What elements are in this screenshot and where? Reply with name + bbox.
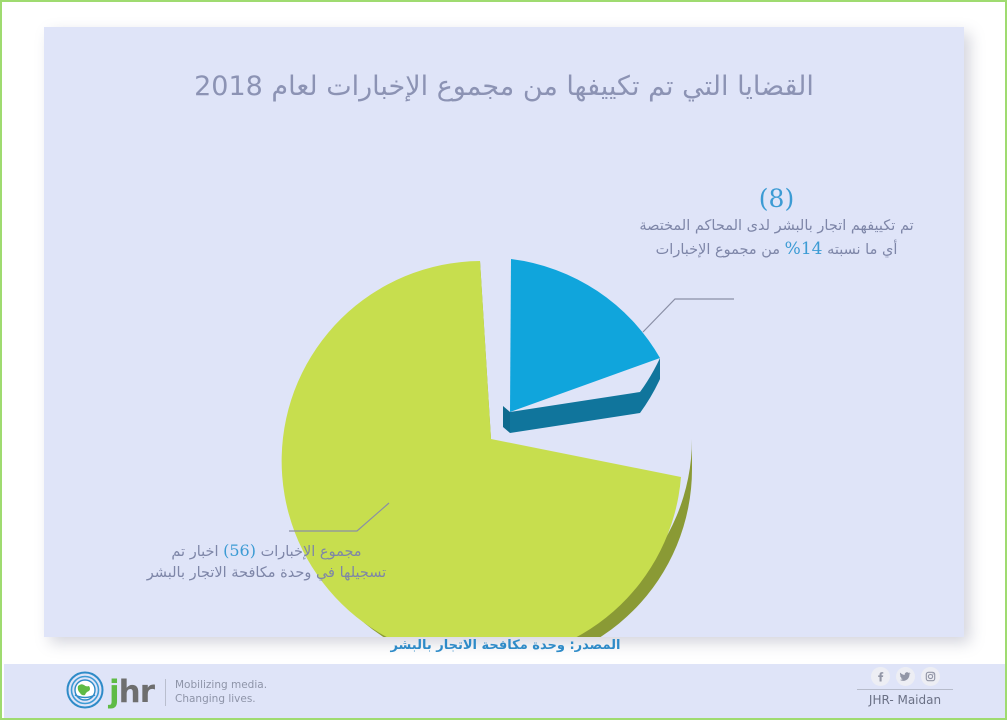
social-links: JHR- Maidan	[845, 667, 965, 707]
green-line1-after: اخبار تم	[171, 544, 223, 560]
green-slice-line1: مجموع الإخبارات (56) اخبار تم	[104, 539, 429, 563]
slide-canvas: القضايا التي تم تكييفها من مجموع الإخبار…	[0, 0, 1007, 720]
pie-slice-blue-side	[503, 358, 660, 433]
jhr-wordmark: jhr	[109, 677, 154, 708]
blue-slice-line1: تم تكييفهم اتجار بالبشر لدى المحاكم المخ…	[589, 216, 964, 237]
instagram-icon[interactable]	[921, 667, 940, 686]
twitter-icon[interactable]	[896, 667, 915, 686]
green-slice-line2: تسجيلها في وحدة مكافحة الاتجار بالبشر	[104, 563, 429, 584]
source-note: المصدر: وحدة مكافحة الاتجار بالبشر	[2, 638, 1007, 653]
blue-line2-after: من مجموع الإخبارات	[656, 242, 785, 258]
blue-slice-line2: أي ما نسبته 14% من مجموع الإخبارات	[589, 237, 964, 262]
footer-bar: jhr Mobilizing media. Changing lives.	[4, 664, 1007, 718]
green-line1-before: مجموع الإخبارات	[256, 544, 362, 560]
jhr-logo: jhr Mobilizing media. Changing lives.	[66, 673, 267, 711]
page-title: القضايا التي تم تكييفها من مجموع الإخبار…	[44, 71, 964, 102]
social-divider	[857, 689, 953, 690]
globe-icon	[66, 671, 104, 713]
logo-letters-hr: hr	[119, 674, 154, 710]
pie-slice-blue	[510, 259, 660, 412]
social-icon-row	[845, 667, 965, 686]
facebook-icon[interactable]	[871, 667, 890, 686]
callout-blue-slice: (8) تم تكييفهم اتجار بالبشر لدى المحاكم …	[589, 185, 964, 261]
blue-slice-percent: 14%	[785, 239, 823, 259]
logo-tagline: Mobilizing media. Changing lives.	[175, 678, 267, 706]
green-slice-count: (56)	[223, 541, 256, 560]
logo-divider	[165, 679, 166, 706]
blue-slice-count: (8)	[589, 185, 964, 214]
tagline-line-1: Mobilizing media.	[175, 678, 267, 692]
callout-green-slice: مجموع الإخبارات (56) اخبار تم تسجيلها في…	[104, 539, 429, 584]
leader-line-blue	[643, 299, 734, 332]
blue-line2-before: أي ما نسبته	[822, 242, 897, 258]
leader-line-green	[289, 503, 389, 531]
tagline-line-2: Changing lives.	[175, 692, 267, 706]
logo-letter-j: j	[109, 674, 119, 710]
chart-panel: القضايا التي تم تكييفها من مجموع الإخبار…	[44, 27, 964, 637]
social-handle-label: JHR- Maidan	[845, 693, 965, 707]
